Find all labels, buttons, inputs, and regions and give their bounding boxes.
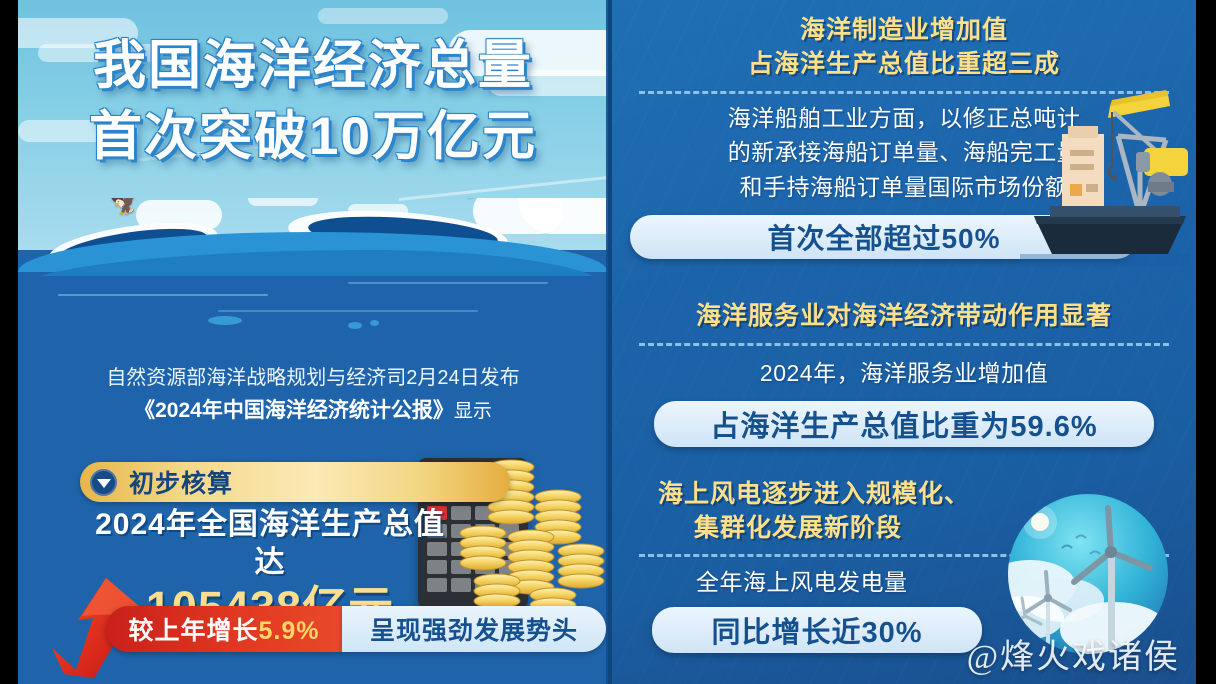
crane-ship-svg [990,66,1190,266]
section-offshore-wind: 海上风电逐步进入规模化、 集群化发展新阶段 全年海上风电发电量 同比增长近30% [612,478,1196,653]
momentum-badge: 呈现强劲发展势头 [342,606,606,652]
section-2-highlight-pill: 占海洋生产总值比重为59.6% [654,401,1154,447]
section-2-heading: 海洋服务业对海洋经济带动作用显著 [612,300,1196,334]
report-title: 《2024年中国海洋经济统计公报》 [134,399,454,422]
cloud-icon [248,198,318,206]
section-services: 海洋服务业对海洋经济带动作用显著 2024年，海洋服务业增加值 占海洋生产总值比… [612,300,1196,447]
wave-highlight [348,282,548,284]
wave-spray [348,322,362,329]
triangle-marker-icon [90,469,117,496]
title-line-2: 首次突破10万亿元 [18,101,608,172]
source-note: 自然资源部海洋战略规划与经济司2月24日发布 《2024年中国海洋经济统计公报》… [18,362,608,428]
panel-divider [606,0,612,684]
section-2-divider [639,343,1169,346]
infographic-canvas: 我国海洋经济总量 首次突破10万亿元 🦅 🦅 [0,0,1216,684]
section-3-pill-text: 同比增长近30% [711,609,922,651]
wave-layer-deep [18,276,608,350]
cloud-icon [318,8,448,24]
section-1-pill-text: 首次全部超过50% [767,217,1000,257]
page-title: 我国海洋经济总量 首次突破10万亿元 [18,30,608,172]
port-crane-ship-illustration [990,66,1190,266]
seagull-icon: 🦅 [457,198,487,199]
growth-prefix: 较上年增长 [129,617,259,645]
growth-number: 5.9% [259,617,320,645]
source-line-2: 《2024年中国海洋经济统计公报》显示 [18,394,608,428]
watermark: @烽火戏诸侯 [967,629,1180,678]
growth-rate-text: 较上年增长5.9% [129,611,320,647]
gold-banner-label: 初步核算 [129,464,233,500]
cloud-streak [398,174,608,201]
wave-spray [208,316,242,325]
section-2-body-line-1: 2024年，海洋服务业增加值 [612,356,1196,391]
section-2-pill-text: 占海洋生产总值比重为59.6% [710,403,1097,445]
section-3-highlight-pill: 同比增长近30% [652,607,982,653]
right-panel: 海洋制造业增加值 占海洋生产总值比重超三成 海洋船舶工业方面，以修正总吨计 的新… [612,0,1196,684]
section-1-heading-line-1: 海洋制造业增加值 [612,14,1196,48]
wave-spray [370,320,379,326]
preliminary-accounting-banner: 初步核算 [80,462,510,502]
title-line-1: 我国海洋经济总量 [18,30,608,101]
ocean-illustration: 🦅 🦅 [18,198,608,350]
report-suffix: 显示 [454,401,492,422]
wave-highlight [218,310,478,312]
section-manufacturing: 海洋制造业增加值 占海洋生产总值比重超三成 海洋船舶工业方面，以修正总吨计 的新… [612,14,1196,259]
figure-lead-text: 2024年全国海洋生产总值达 [80,506,460,581]
growth-badge-row: 较上年增长5.9% 呈现强劲发展势头 [106,606,606,652]
growth-rate-badge: 较上年增长5.9% [106,606,342,652]
source-line-1: 自然资源部海洋战略规划与经济司2月24日发布 [18,362,608,394]
left-panel: 我国海洋经济总量 首次突破10万亿元 🦅 🦅 [18,0,608,684]
section-2-heading-line-1: 海洋服务业对海洋经济带动作用显著 [612,300,1196,334]
wave-highlight [58,294,268,296]
section-2-body: 2024年，海洋服务业增加值 [612,356,1196,391]
momentum-label: 呈现强劲发展势头 [370,611,578,647]
